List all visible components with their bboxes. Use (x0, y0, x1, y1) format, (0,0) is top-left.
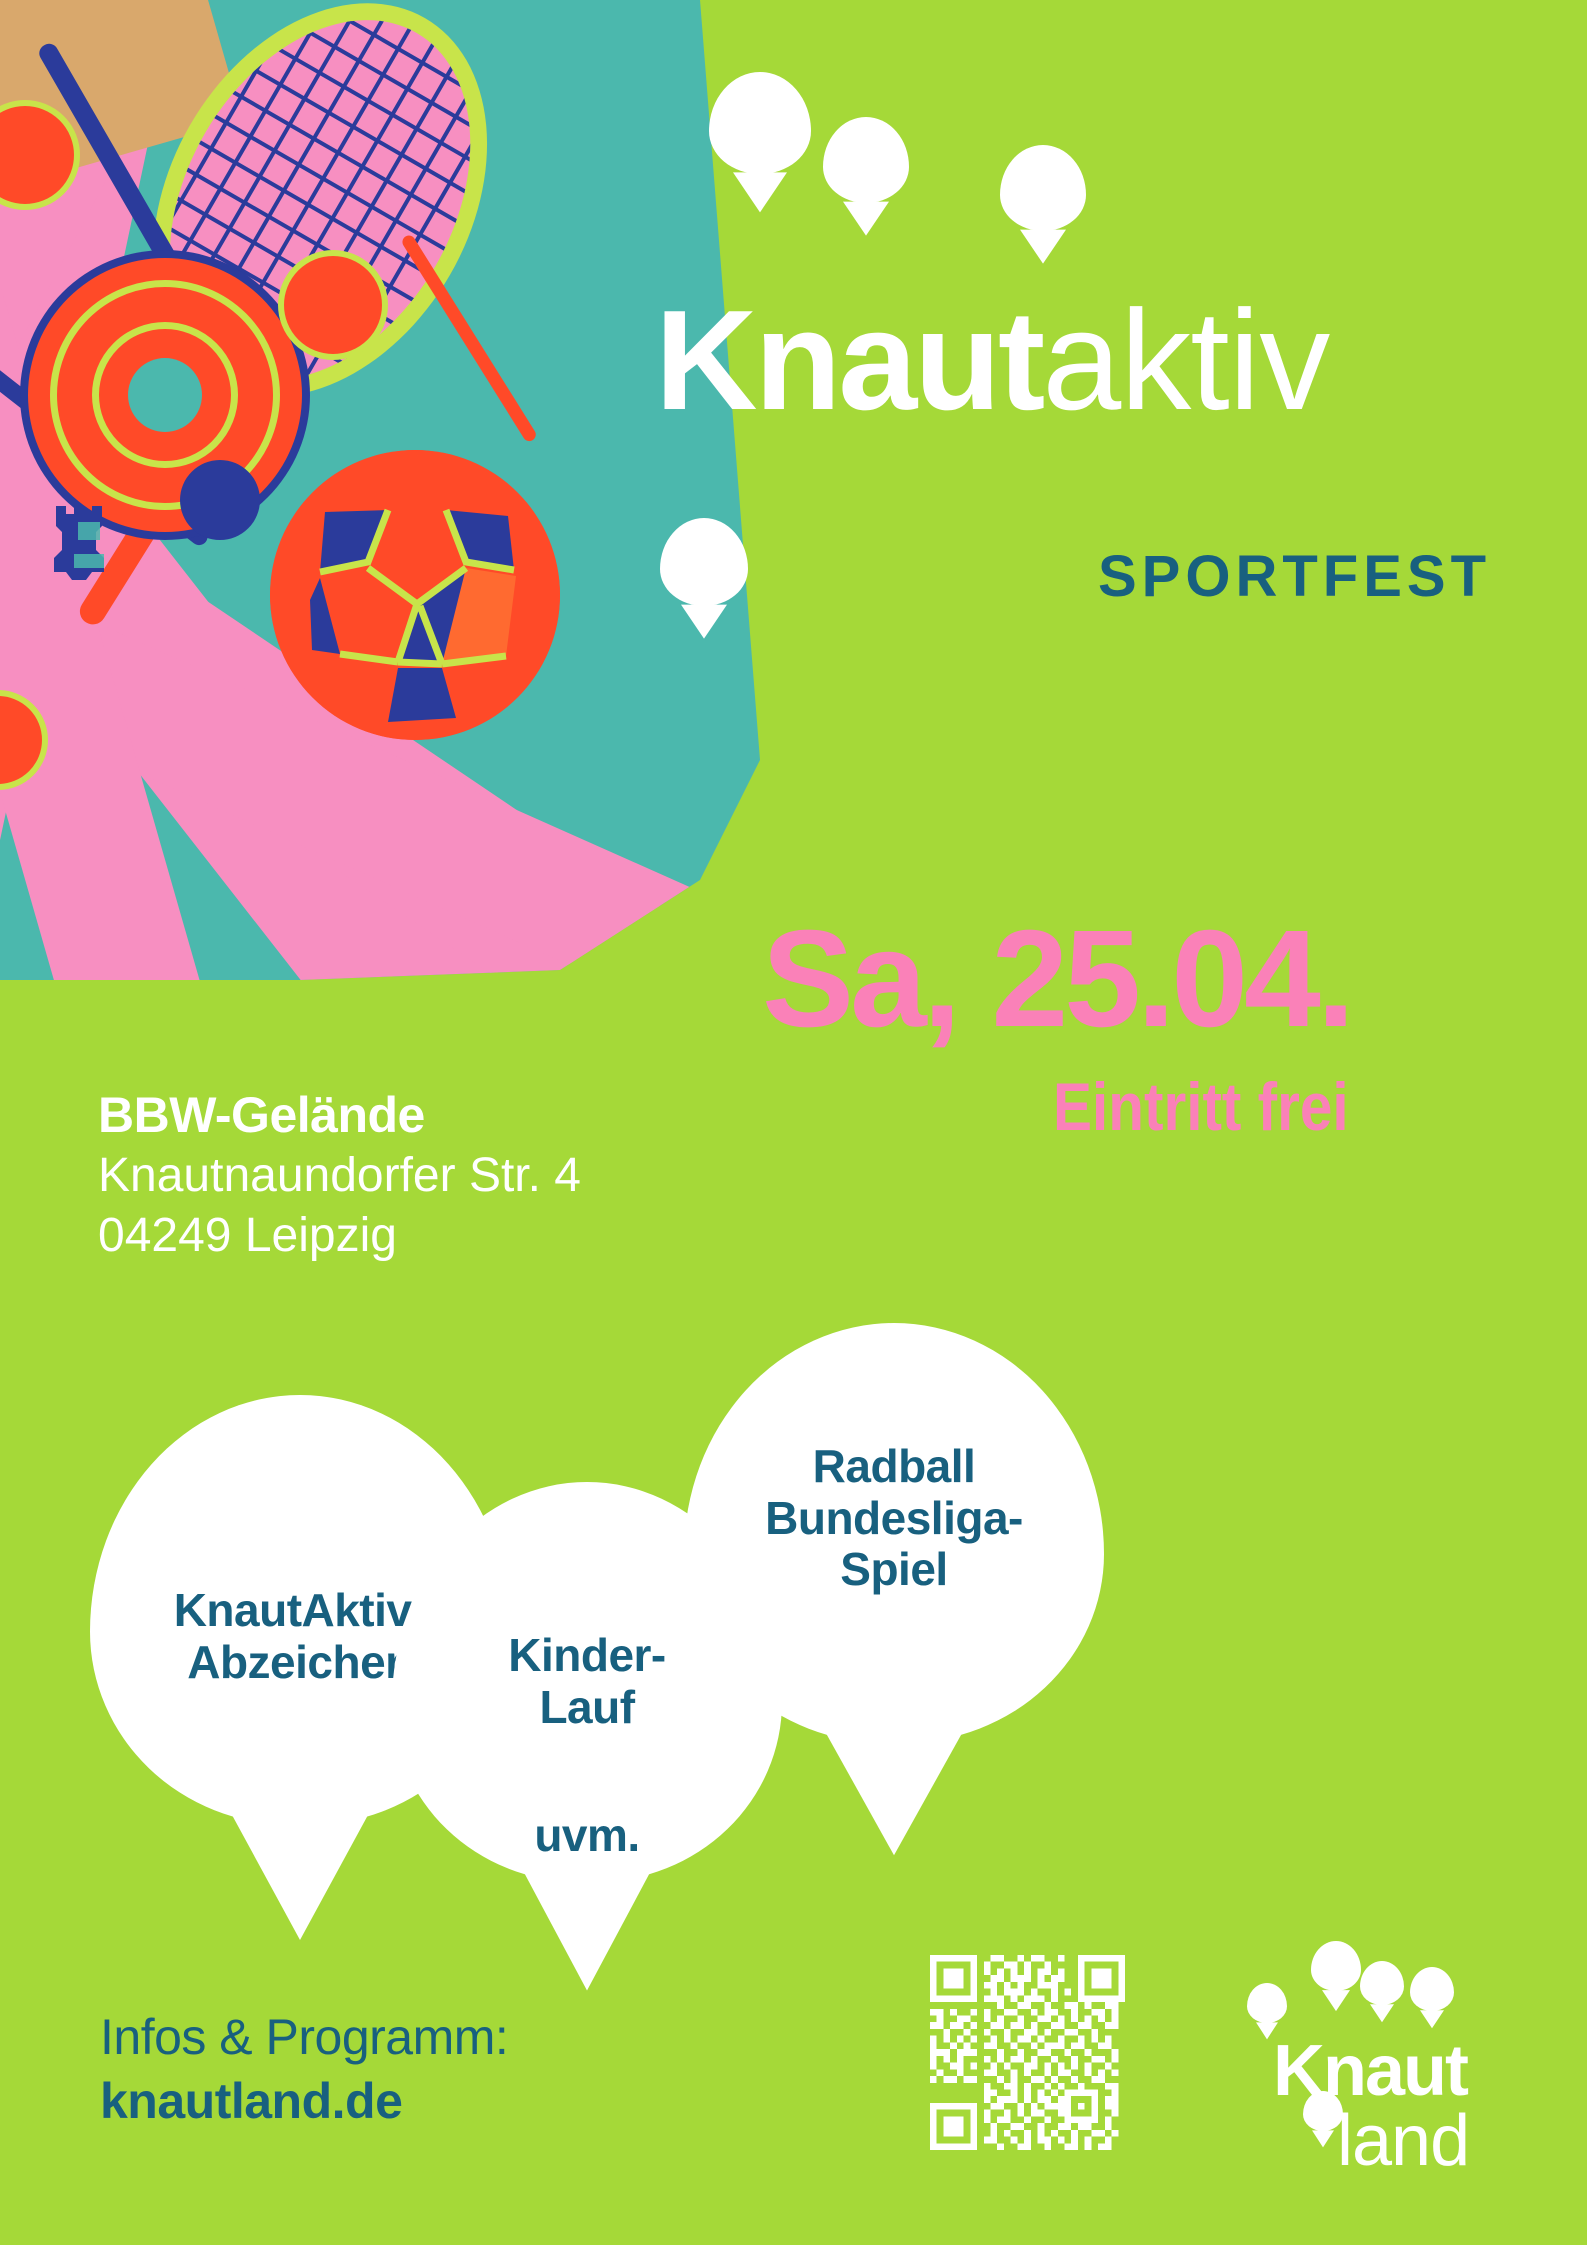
pin-tip (524, 1873, 650, 1991)
tennis-ball-icon-2 (278, 250, 388, 360)
event-date: Sa, 25.04. (762, 900, 1351, 1059)
pin-tip (232, 1815, 368, 1940)
logo-pin-1 (1311, 1941, 1361, 1991)
website-url[interactable]: knautland.de (100, 2069, 508, 2133)
venue-name: BBW-Gelände (98, 1085, 581, 1146)
qr-code[interactable] (930, 1955, 1125, 2150)
venue-city: 04249 Leipzig (98, 1206, 581, 1266)
callout-radball-bundesliga-spiel: Radball Bundesliga- Spiel (684, 1323, 1104, 1743)
callout-label: Radball Bundesliga- Spiel (684, 1441, 1104, 1596)
free-entry-note: Eintritt frei (1053, 1068, 1349, 1146)
knautland-logo: Knaut land (1255, 1925, 1505, 2185)
venue-street: Knautnaundorfer Str. 4 (98, 1146, 581, 1206)
blue-ball-icon (180, 460, 260, 540)
title-bold: Knaut (655, 281, 1042, 440)
logo-pin-4 (1247, 1983, 1287, 2023)
callout-label-uvm: uvm. (392, 1810, 782, 1862)
pin-tip (826, 1733, 962, 1855)
logo-light-text: land (1337, 2100, 1469, 2182)
title-light: aktiv (1042, 281, 1329, 440)
page-title: Knautaktiv (655, 290, 1329, 432)
venue-address: BBW-Gelände Knautnaundorfer Str. 4 04249… (98, 1085, 581, 1266)
logo-pin-3 (1410, 1967, 1454, 2011)
dartboard-icon (20, 250, 310, 540)
soccer-ball-icon (270, 450, 560, 740)
info-block: Infos & Programm: knautland.de (100, 2005, 508, 2133)
decorative-pin-1 (709, 72, 811, 174)
subtitle: SPORTFEST (1098, 543, 1491, 610)
poster-root: Knautaktiv SPORTFEST Sa, 25.04. Eintritt… (0, 0, 1587, 2245)
logo-pin-2 (1360, 1961, 1404, 2005)
chess-rook-icon (52, 500, 172, 585)
info-label: Infos & Programm: (100, 2005, 508, 2069)
decorative-pin-3 (1000, 145, 1086, 231)
qr-code-icon (930, 1955, 1125, 2150)
sports-illustration (0, 0, 760, 980)
decorative-pin-2 (823, 117, 909, 203)
